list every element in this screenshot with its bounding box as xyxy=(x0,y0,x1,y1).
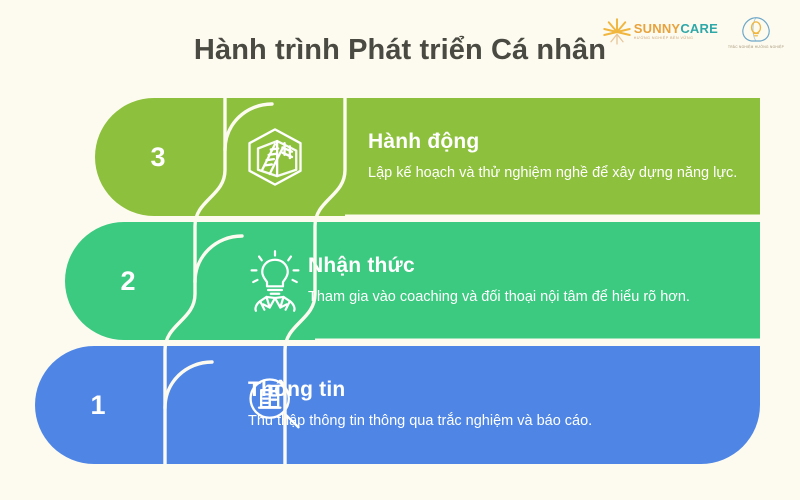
steps-container: 3 xyxy=(0,0,800,500)
step-description-1: Thu thập thông tin thông qua trắc nghiệm… xyxy=(248,411,648,432)
step-text-cell-3: Hành động Lập kế hoạch và thử nghiệm ngh… xyxy=(368,98,743,216)
step-text-cell-1: Thông tin Thu thập thông tin thông qua t… xyxy=(248,346,648,464)
step-row-1[interactable]: 1 xyxy=(35,346,760,464)
step-row-2[interactable]: 2 xyxy=(65,222,760,340)
cube-ladder-icon xyxy=(241,123,309,191)
step-number-3: 3 xyxy=(119,98,197,216)
step-description-2: Tham gia vào coaching và đối thoại nội t… xyxy=(308,287,693,308)
step-description-3: Lập kế hoạch và thử nghiệm nghề để xây d… xyxy=(368,163,743,184)
step-number-1: 1 xyxy=(59,346,137,464)
step-number-2: 2 xyxy=(89,222,167,340)
step-title-3: Hành động xyxy=(368,130,743,154)
infographic-canvas: Hành trình Phát triển Cá nhân xyxy=(0,0,800,500)
step-icon-cell-3 xyxy=(220,98,330,216)
step-title-1: Thông tin xyxy=(248,378,648,402)
lightbulb-brain-icon xyxy=(241,247,309,315)
step-text-cell-2: Nhận thức Tham gia vào coaching và đối t… xyxy=(308,222,693,340)
step-row-3[interactable]: 3 xyxy=(95,98,760,216)
step-title-2: Nhận thức xyxy=(308,254,693,278)
